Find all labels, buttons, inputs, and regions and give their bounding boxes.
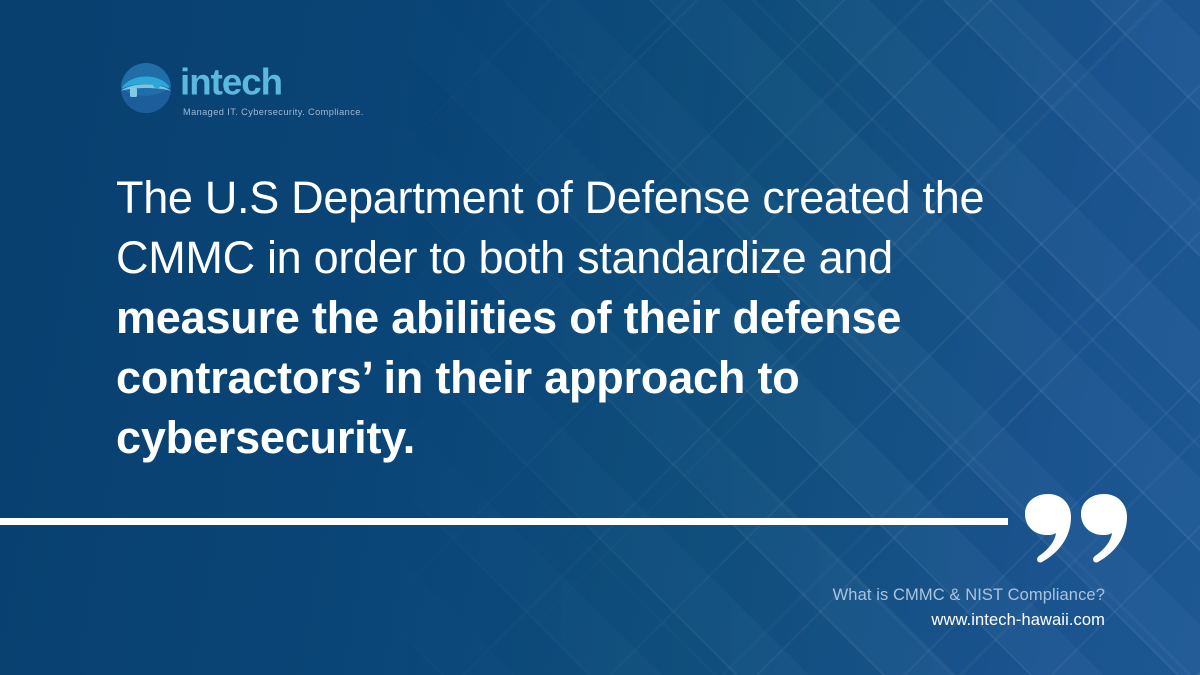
intech-circle-wave-icon [118, 60, 174, 116]
brand-logo[interactable]: intech Managed IT. Cybersecurity. Compli… [118, 60, 367, 117]
logo-text-group: intech Managed IT. Cybersecurity. Compli… [180, 61, 367, 117]
footer-article-title: What is CMMC & NIST Compliance? [833, 583, 1105, 608]
quote-text: The U.S Department of Defense created th… [116, 168, 1046, 468]
quote-normal-part: The U.S Department of Defense created th… [116, 172, 984, 283]
quote-bold-part: measure the abilities of their defense c… [116, 292, 901, 463]
brand-tagline: Managed IT. Cybersecurity. Compliance. [183, 107, 367, 117]
closing-double-quote-icon [1022, 492, 1130, 564]
intech-wordmark: intech [180, 61, 367, 105]
svg-text:intech: intech [180, 61, 282, 102]
footer-block: What is CMMC & NIST Compliance? www.inte… [833, 583, 1105, 633]
slide-canvas: intech Managed IT. Cybersecurity. Compli… [0, 0, 1200, 675]
footer-website-url[interactable]: www.intech-hawaii.com [833, 608, 1105, 633]
horizontal-rule [0, 518, 1008, 525]
